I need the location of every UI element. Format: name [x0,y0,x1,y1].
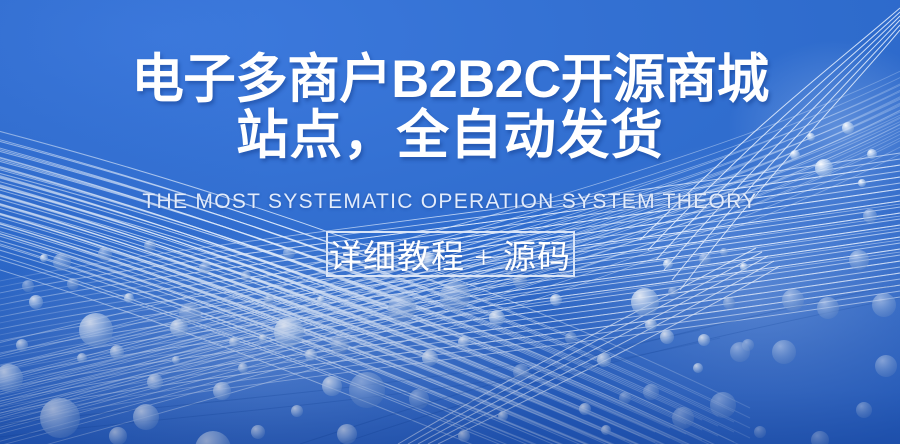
badge-container: 详细教程 + 源码 [0,231,900,277]
page-title: 电子多商户B2B2C开源商城 站点，全自动发货 [5,52,896,164]
status-badge: 详细教程 + 源码 [326,231,575,277]
promo-banner: 电子多商户B2B2C开源商城 站点，全自动发货 THE MOST SYSTEMA… [0,0,900,444]
subtitle: THE MOST SYSTEMATIC OPERATION SYSTEM THE… [0,190,900,214]
banner-content: 电子多商户B2B2C开源商城 站点，全自动发货 THE MOST SYSTEMA… [0,0,900,444]
title-line-2: 站点，全自动发货 [5,108,896,164]
title-line-1: 电子多商户B2B2C开源商城 [5,52,896,108]
